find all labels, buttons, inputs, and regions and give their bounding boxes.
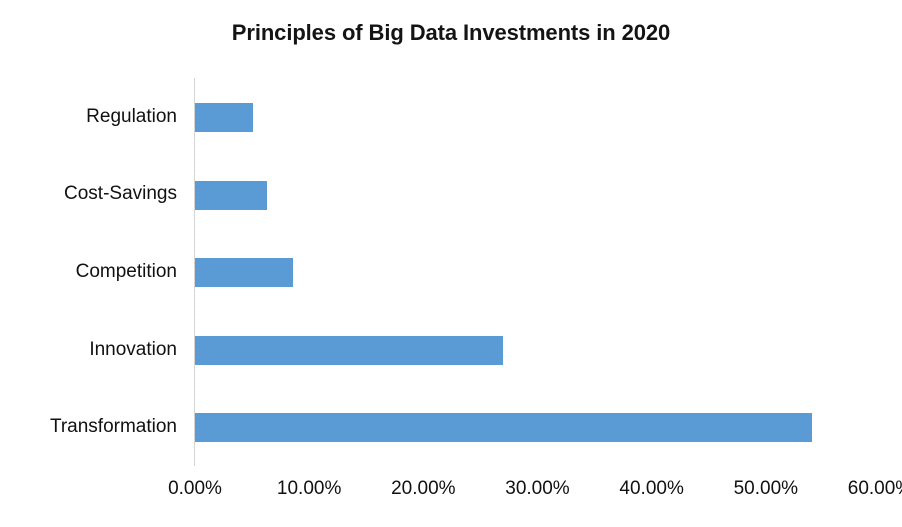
bar-row — [195, 78, 880, 156]
plot-area — [195, 78, 880, 466]
y-axis-tick-label: Cost-Savings — [0, 184, 177, 203]
y-axis-tick-label: Competition — [0, 262, 177, 281]
chart-title: Principles of Big Data Investments in 20… — [0, 20, 902, 46]
bar-row — [195, 388, 880, 466]
y-axis-tick-label: Transformation — [0, 417, 177, 436]
bar[interactable] — [195, 181, 267, 210]
bar[interactable] — [195, 336, 503, 365]
bar[interactable] — [195, 413, 812, 442]
bar-chart: Principles of Big Data Investments in 20… — [0, 0, 902, 527]
y-axis-tick-label: Regulation — [0, 107, 177, 126]
bar-row — [195, 156, 880, 234]
y-axis-tick-label: Innovation — [0, 340, 177, 359]
bar[interactable] — [195, 103, 253, 132]
x-axis-tick-label: 60.00% — [810, 478, 902, 500]
bar-row — [195, 233, 880, 311]
bar-row — [195, 311, 880, 389]
bar[interactable] — [195, 258, 293, 287]
